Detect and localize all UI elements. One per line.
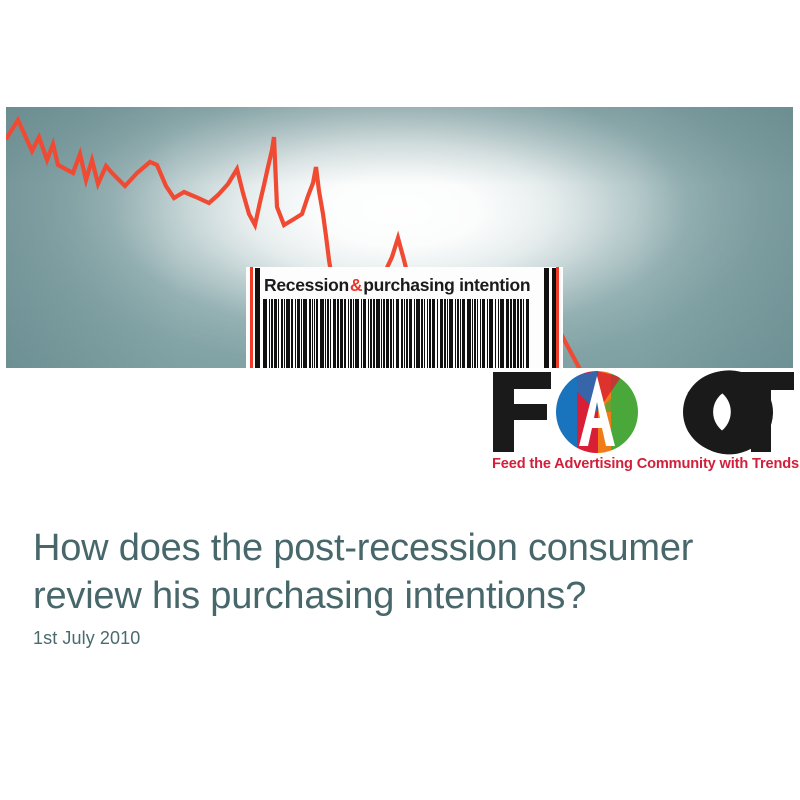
barcode-bar [517, 299, 518, 368]
barcode-bar [381, 299, 383, 368]
barcode-bar [393, 299, 395, 368]
barcode-bar [396, 299, 400, 368]
barcode-bar [278, 299, 279, 368]
barcode-bar [455, 299, 456, 368]
barcode-bar [355, 299, 359, 368]
barcode-bar [291, 299, 293, 368]
barcode-bar [348, 299, 349, 368]
barcode-bar [432, 299, 436, 368]
barcode-bar [330, 299, 331, 368]
barcode-bar [414, 299, 415, 368]
barcode-bar [510, 299, 512, 368]
slide-canvas: Recession & purchasing intention [0, 0, 800, 800]
barcode-bar [477, 299, 478, 368]
barcode-bar [526, 299, 530, 368]
barcode-left-guard-bar [255, 268, 260, 368]
barcode-label-ampersand: & [349, 275, 363, 296]
barcode-bar [274, 299, 277, 368]
barcode-bar [404, 299, 405, 368]
barcode-bar [320, 299, 324, 368]
barcode-bar [333, 299, 336, 368]
fact-logo-letter-a [556, 371, 638, 454]
barcode-label-prefix: Recession [264, 275, 349, 296]
barcode-bar [444, 299, 446, 368]
barcode-bar [480, 299, 481, 368]
barcode-bar [513, 299, 516, 368]
barcode-bar [383, 299, 384, 368]
barcode-bar [487, 299, 489, 368]
barcode-bar [429, 299, 431, 368]
barcode-bars [263, 299, 545, 368]
barcode-bar [474, 299, 476, 368]
barcode-bar [424, 299, 425, 368]
barcode-bar [495, 299, 496, 368]
barcode-bar [462, 299, 465, 368]
page-title-line-1: How does the post-recession consumer [33, 527, 693, 569]
barcode-bar [406, 299, 408, 368]
barcode-bar [314, 299, 315, 368]
fact-logo-letter-f [493, 372, 551, 452]
barcode-bar [284, 299, 285, 368]
barcode-bar [376, 299, 380, 368]
barcode-bar [482, 299, 485, 368]
barcode-bar [467, 299, 471, 368]
barcode-bar [281, 299, 283, 368]
barcode-bar [421, 299, 423, 368]
barcode-bar [498, 299, 499, 368]
presentation-date: 1st July 2010 [33, 628, 140, 649]
barcode-bar [427, 299, 428, 368]
barcode-bar [353, 299, 354, 368]
barcode-bar [386, 299, 389, 368]
barcode-bar [390, 299, 391, 368]
barcode-bar [373, 299, 374, 368]
barcode-bar [340, 299, 344, 368]
barcode-bar [327, 299, 329, 368]
barcode-bar [437, 299, 438, 368]
page-title-line-2: review his purchasing intentions? [33, 572, 763, 620]
barcode-left-red-edge [250, 267, 253, 368]
barcode-bar [344, 299, 346, 368]
barcode-bar [312, 299, 313, 368]
fact-logo: Feed the Advertising Community with Tren… [489, 368, 794, 481]
barcode-bar [401, 299, 402, 368]
page-title: How does the post-recession consumer rev… [33, 524, 763, 620]
barcode-graphic: Recession & purchasing intention [246, 267, 563, 368]
barcode-bar [295, 299, 296, 368]
barcode-bar [363, 299, 366, 368]
barcode-bar [416, 299, 420, 368]
barcode-bar [523, 299, 525, 368]
barcode-bar [447, 299, 448, 368]
barcode-bar [303, 299, 307, 368]
barcode-bar [316, 299, 318, 368]
barcode-bar [350, 299, 352, 368]
barcode-label: Recession & purchasing intention [264, 272, 542, 298]
barcode-bar [297, 299, 300, 368]
barcode-bar [457, 299, 459, 368]
barcode-bar [301, 299, 302, 368]
barcode-bar [368, 299, 370, 368]
barcode-bar [370, 299, 371, 368]
barcode-bar [286, 299, 290, 368]
barcode-bar [309, 299, 311, 368]
barcode-bar [472, 299, 473, 368]
barcode-bar [271, 299, 272, 368]
barcode-bar [269, 299, 271, 368]
barcode-right-guard-bar-outer [552, 268, 556, 368]
recession-banner-image: Recession & purchasing intention [6, 107, 793, 368]
barcode-bar [409, 299, 412, 368]
barcode-bar [440, 299, 443, 368]
barcode-bar [460, 299, 461, 368]
barcode-bar [263, 299, 267, 368]
barcode-bar [520, 299, 521, 368]
barcode-bar [449, 299, 453, 368]
barcode-label-suffix: purchasing intention [363, 275, 530, 296]
barcode-bar [325, 299, 326, 368]
fact-logo-tagline: Feed the Advertising Community with Tren… [492, 456, 794, 472]
barcode-bar [502, 299, 503, 368]
barcode-bar [337, 299, 338, 368]
barcode-bar [489, 299, 493, 368]
barcode-bar [500, 299, 502, 368]
barcode-right-red-edge [556, 267, 559, 368]
fact-logo-wordmark [489, 368, 794, 456]
barcode-bar [361, 299, 362, 368]
barcode-bar [506, 299, 510, 368]
